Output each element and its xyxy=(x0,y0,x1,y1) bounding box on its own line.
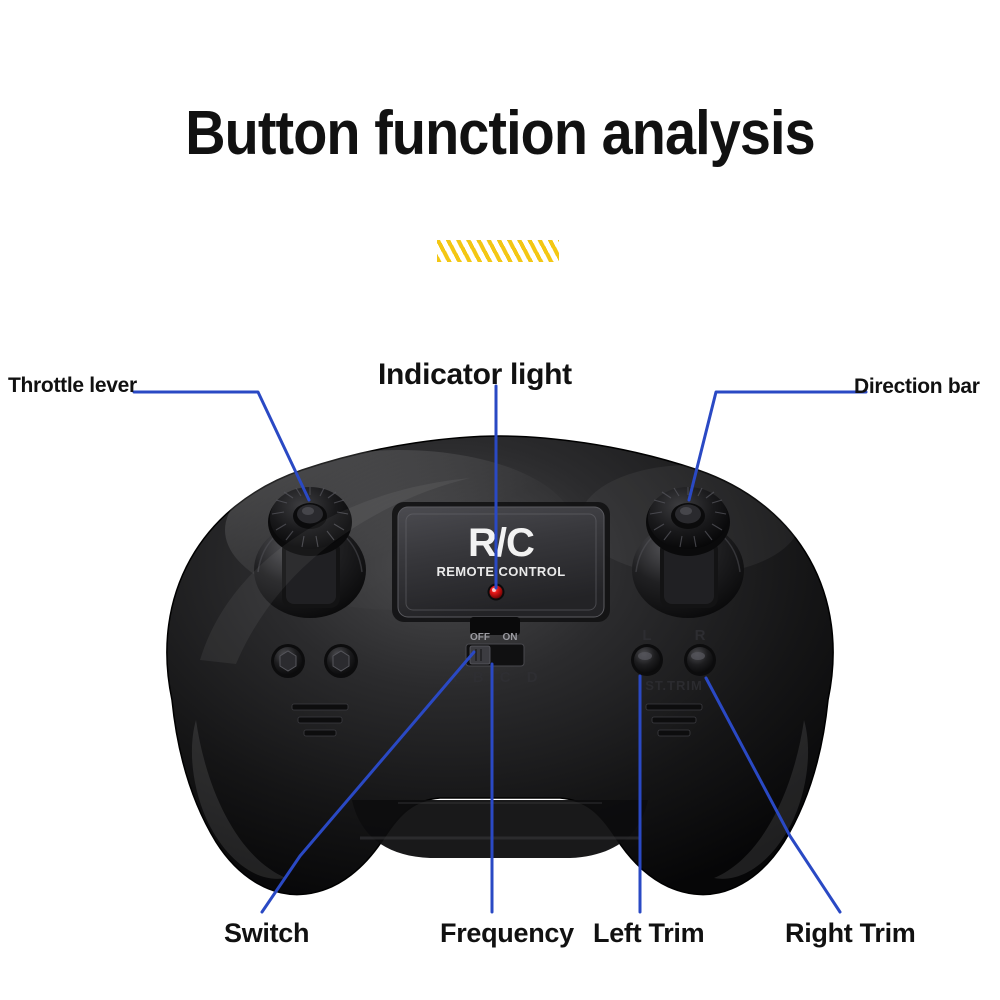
callout-label-switch: Switch xyxy=(224,918,309,949)
callout-label-throttle-lever: Throttle lever xyxy=(8,374,137,398)
rc-panel: R/C REMOTE CONTROL xyxy=(392,502,610,622)
right-trim-left-label: L xyxy=(642,627,651,644)
switch-channel-labels: A B C D xyxy=(446,669,543,686)
right-trim-right-label: R xyxy=(695,627,706,644)
switch-off-label: OFF xyxy=(470,632,490,643)
direction-bar-cap xyxy=(646,487,730,556)
callout-label-left-trim: Left Trim xyxy=(593,918,704,949)
st-trim-caption: ST.TRIM xyxy=(645,678,703,693)
page-root: Button function analysis xyxy=(0,0,1000,1000)
callout-label-frequency: Frequency xyxy=(440,918,574,949)
grip-center-notch xyxy=(352,800,648,858)
rc-panel-subtitle: REMOTE CONTROL xyxy=(436,564,565,579)
rc-controller-illustration: R/C REMOTE CONTROL xyxy=(167,436,833,895)
callout-label-indicator-light: Indicator light xyxy=(378,358,572,392)
switch-on-label: ON xyxy=(503,632,518,643)
rc-panel-brand: R/C xyxy=(468,521,534,565)
callout-label-direction-bar: Direction bar xyxy=(854,375,980,399)
illustration-overlay: R/C REMOTE CONTROL xyxy=(0,0,1000,1000)
callout-label-right-trim: Right Trim xyxy=(785,918,916,949)
